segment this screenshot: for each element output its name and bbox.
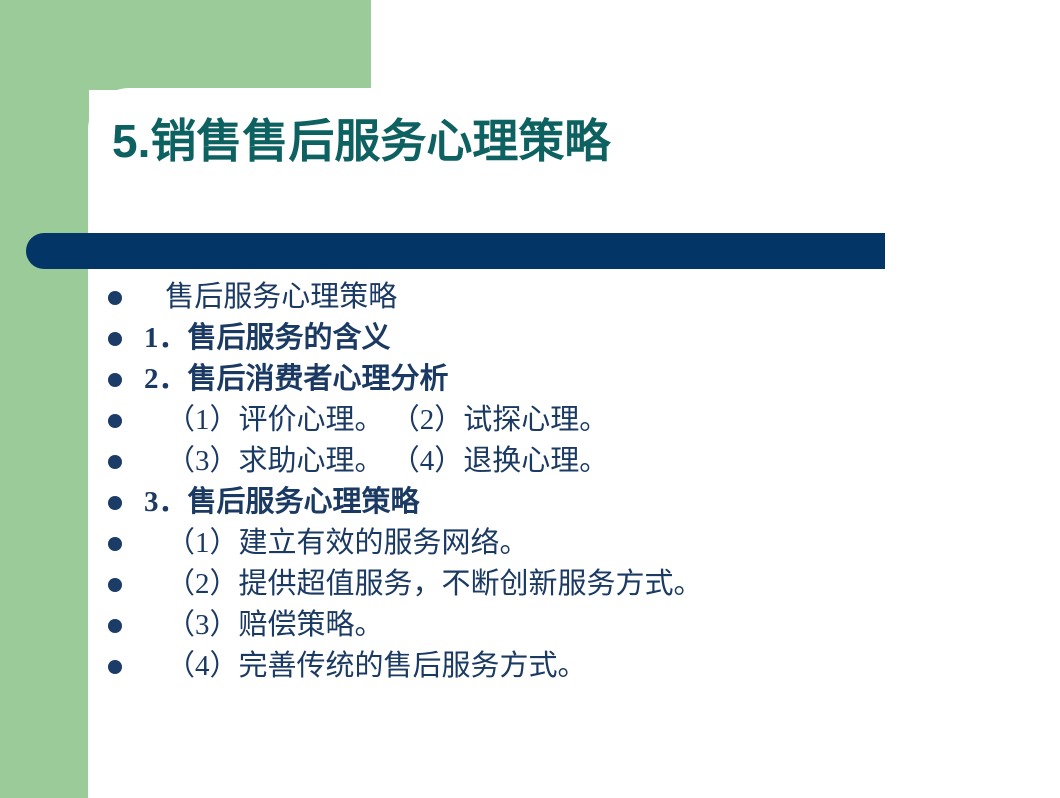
list-item: 售后服务心理策略 [108, 277, 1008, 318]
bullet-point-icon [108, 332, 122, 346]
list-item-label: 3．售后服务心理策略 [144, 488, 1008, 517]
title-text: 销售售后服务心理策略 [150, 116, 610, 167]
bullet-point-icon [108, 537, 122, 551]
bullet-point-icon [108, 414, 122, 428]
list-item: （1）建立有效的服务网络。 [108, 523, 1008, 564]
title-divider-bar [26, 233, 885, 269]
bullet-list: 售后服务心理策略1．售后服务的含义2．售后消费者心理分析（1）评价心理。 （2）… [108, 277, 1008, 687]
bullet-point-icon [108, 578, 122, 592]
list-item-label: （2）提供超值服务，不断创新服务方式。 [144, 570, 1008, 599]
list-item-label: （3）赔偿策略。 [144, 611, 1008, 640]
bullet-point-icon [108, 619, 122, 633]
bullet-point-icon [108, 291, 122, 305]
bullet-point-icon [108, 496, 122, 510]
presentation-slide: 5.销售售后服务心理策略 售后服务心理策略1．售后服务的含义2．售后消费者心理分… [0, 0, 1060, 798]
list-item: 3．售后服务心理策略 [108, 482, 1008, 523]
list-item-label: （4）完善传统的售后服务方式。 [144, 652, 1008, 681]
bullet-point-icon [108, 660, 122, 674]
list-item-label: 售后服务心理策略 [144, 283, 1008, 312]
list-item: （3）求助心理。 （4）退换心理。 [108, 441, 1008, 482]
list-item: （3）赔偿策略。 [108, 605, 1008, 646]
page-title: 5.销售售后服务心理策略 [112, 116, 992, 168]
list-item: （4）完善传统的售后服务方式。 [108, 646, 1008, 687]
list-item: （1）评价心理。 （2）试探心理。 [108, 400, 1008, 441]
list-item-label: （1）评价心理。 （2）试探心理。 [144, 406, 1008, 435]
list-item-label: 2．售后消费者心理分析 [144, 365, 1008, 394]
list-item-label: （1）建立有效的服务网络。 [144, 529, 1008, 558]
list-item-label: （3）求助心理。 （4）退换心理。 [144, 447, 1008, 476]
bullet-point-icon [108, 455, 122, 469]
list-item-label: 1．售后服务的含义 [144, 324, 1008, 353]
title-number: 5. [112, 115, 150, 167]
bullet-point-icon [108, 373, 122, 387]
list-item: 2．售后消费者心理分析 [108, 359, 1008, 400]
list-item: 1．售后服务的含义 [108, 318, 1008, 359]
green-accent-left-column [0, 0, 89, 798]
list-item: （2）提供超值服务，不断创新服务方式。 [108, 564, 1008, 605]
